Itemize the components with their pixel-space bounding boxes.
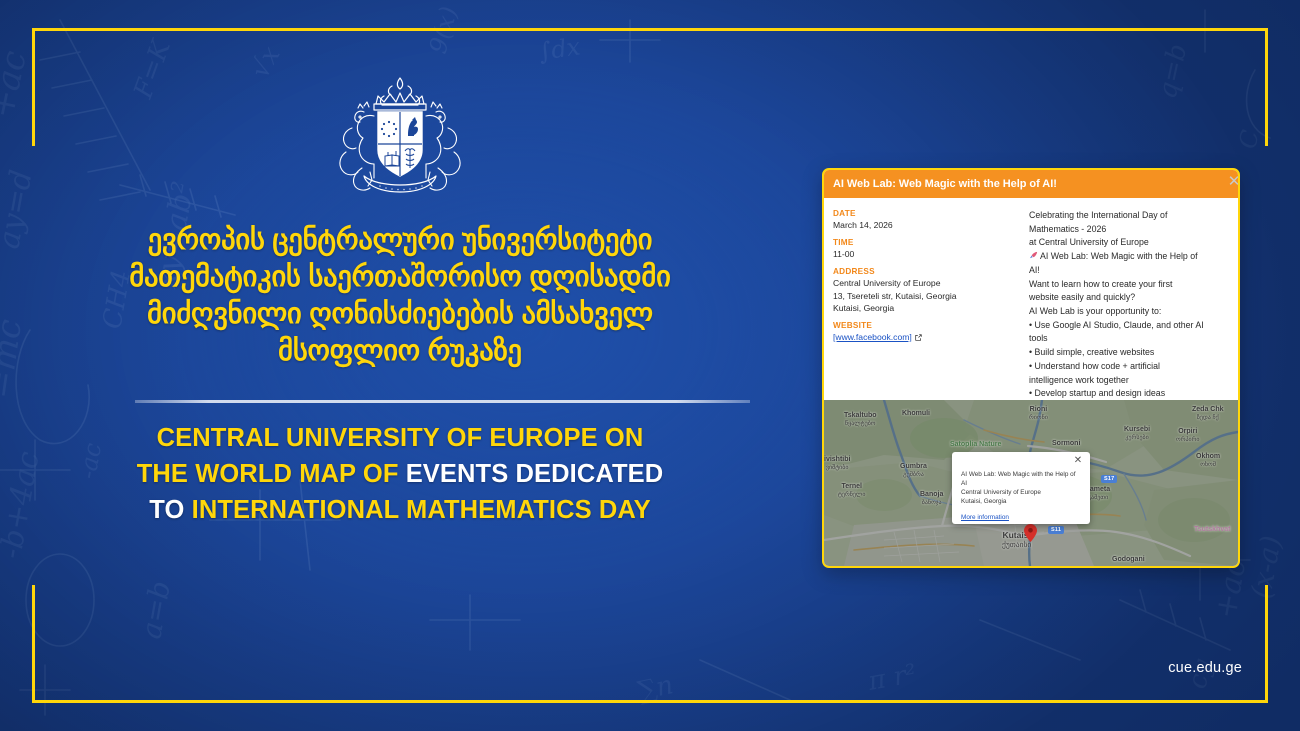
corner-bracket-top-right [1150,28,1268,146]
map-label-satoplia-nature: Satoplia Nature [950,441,1001,450]
close-icon[interactable]: ✕ [1226,174,1240,190]
map-label-rioni: Rioniრიონი [1029,406,1048,422]
map-label-ivishtibi: ivishtibiვიშტიბი [824,456,850,472]
website-label: WEBSITE [833,321,1023,330]
desc-line-6: Want to learn how to create your first [1029,278,1232,292]
website-link[interactable]: [www.facebook.com] [833,332,912,342]
subtitle-line-2-white: EVENTS DEDICATED [406,460,664,488]
map-label-zeda-chk: Zeda Chkზედა ჩქ [1192,406,1224,422]
desc-line-2: Mathematics - 2026 [1029,223,1232,237]
address-line-1: Central University of Europe [833,277,1023,289]
title-line-3: მიძღვნილი ღონისძიებების ამსახველ [40,296,760,333]
map-label-sormoni: Sormoni [1052,440,1080,449]
subtitle-line-2: THE WORLD MAP OF EVENTS DEDICATED [40,456,760,492]
website-value: [www.facebook.com] [833,331,1023,343]
map-popup-line-1: AI Web Lab: Web Magic with the Help of A… [961,470,1081,488]
desc-line-14: • Develop startup and design ideas [1029,387,1232,401]
road-badge-s11: S11 [1048,526,1064,534]
map-info-popup: ✕ AI Web Lab: Web Magic with the Help of… [952,452,1090,524]
desc-line-9: • Use Google AI Studio, Claude, and othe… [1029,319,1232,333]
desc-line-10: tools [1029,332,1232,346]
map-label-kursebi: Kursebiკურსები [1124,426,1150,442]
map-label-godogani: Godogani [1112,556,1145,565]
subtitle-line-3: TO INTERNATIONAL MATHEMATICS DAY [40,492,760,528]
page-title-english: CENTRAL UNIVERSITY OF EUROPE ON THE WORL… [40,420,760,529]
map-label-okhom: Okhomოხომ [1196,453,1220,469]
map-label-khomuli: Khomuli [902,410,930,419]
event-dialog-header: AI Web Lab: Web Magic with the Help of A… [824,170,1238,198]
university-crest-logo [322,72,478,200]
desc-line-13: intelligence work together [1029,374,1232,388]
map-popup-text: AI Web Lab: Web Magic with the Help of A… [961,470,1081,506]
time-label: TIME [833,238,1023,247]
event-dialog-title: AI Web Lab: Web Magic with the Help of A… [833,178,1057,190]
event-details-column: DATE March 14, 2026 TIME 11-00 ADDRESS C… [833,209,1023,400]
event-description: Celebrating the International Day of Mat… [1029,209,1232,401]
desc-line-11: • Build simple, creative websites [1029,346,1232,360]
date-label: DATE [833,209,1023,218]
map-label-orpiri: Orpiriორპირი [1176,428,1200,444]
desc-line-5: AI! [1029,264,1232,278]
map-popup-close-icon[interactable]: ✕ [1073,456,1083,466]
subtitle-line-1-yellow: CENTRAL UNIVERSITY OF EUROPE ON [157,424,644,452]
address-label: ADDRESS [833,267,1023,276]
time-value-line: 11-00 [833,248,1023,260]
page-title-georgian: ევროპის ცენტრალური უნივერსიტეტი მათემატი… [40,222,760,370]
map-label-tsutskhvat: Tsutskhvat [1194,526,1230,535]
svg-text:π r²: π r² [865,659,919,697]
subtitle-line-1: CENTRAL UNIVERSITY OF EUROPE ON [40,420,760,456]
subtitle-line-2-yellow: THE WORLD MAP OF [137,460,406,488]
title-divider [135,400,750,403]
map-location-marker[interactable] [1024,524,1037,542]
event-description-column: Celebrating the International Day of Mat… [1029,209,1232,400]
subtitle-line-3-yellow: INTERNATIONAL MATHEMATICS DAY [192,496,651,524]
desc-line-8: AI Web Lab is your opportunity to: [1029,305,1232,319]
desc-line-7: website easily and quickly? [1029,291,1232,305]
event-screenshot-panel: AI Web Lab: Web Magic with the Help of A… [822,168,1240,568]
rocket-pin-icon [1029,251,1038,260]
road-badge-s17: S17 [1101,475,1117,483]
embedded-map[interactable]: Tskaltuboწყალტუბო Khomuli Rioniრიონი Zed… [824,400,1238,566]
desc-line-4: AI Web Lab: Web Magic with the Help of [1029,250,1232,264]
map-label-gumbra: Gumbraგუმბრა [900,463,927,479]
map-label-ternel: Ternelტერნელი [838,483,865,499]
date-value-line: March 14, 2026 [833,219,1023,231]
svg-text:q=b: q=b [1153,41,1194,101]
desc-line-12: • Understand how code + artificial [1029,360,1232,374]
svg-text:C: C [1233,127,1264,151]
time-value: 11-00 [833,248,1023,260]
subtitle-line-3-white: TO [149,496,191,524]
desc-line-3: at Central University of Europe [1029,236,1232,250]
title-line-4: მსოფლიო რუკაზე [40,333,760,370]
desc-line-4-text: AI Web Lab: Web Magic with the Help of [1040,251,1198,261]
event-dialog-body: DATE March 14, 2026 TIME 11-00 ADDRESS C… [824,198,1238,400]
date-value: March 14, 2026 [833,219,1023,231]
poster-root: +ac ay=d =mc -b+4ac F=K CH4 xy=ab² -ac a… [0,0,1300,731]
title-line-2: მათემატიკის საერთაშორისო დღისადმი [40,259,760,296]
more-information-link[interactable]: More information [961,514,1009,521]
map-label-tskaltubo: Tskaltuboწყალტუბო [844,412,877,428]
map-popup-line-3: Kutaisi, Georgia [961,497,1081,506]
title-line-1: ევროპის ცენტრალური უნივერსიტეტი [40,222,760,259]
svg-text:(x-a): (x-a) [1244,533,1287,601]
external-link-icon [915,334,922,341]
left-content-column: ევროპის ცენტრალური უნივერსიტეტი მათემატი… [0,0,800,731]
map-label-banoja: Banojaბანოჯა [920,491,943,507]
website-url: cue.edu.ge [1168,660,1242,676]
corner-bracket-bottom-right [1150,585,1268,703]
address-line-3: Kutaisi, Georgia [833,302,1023,314]
address-line-2: 13, Tsereteli str, Kutaisi, Georgia [833,290,1023,302]
map-popup-line-2: Central University of Europe [961,488,1081,497]
address-value: Central University of Europe 13, Tserete… [833,277,1023,314]
desc-line-1: Celebrating the International Day of [1029,209,1232,223]
